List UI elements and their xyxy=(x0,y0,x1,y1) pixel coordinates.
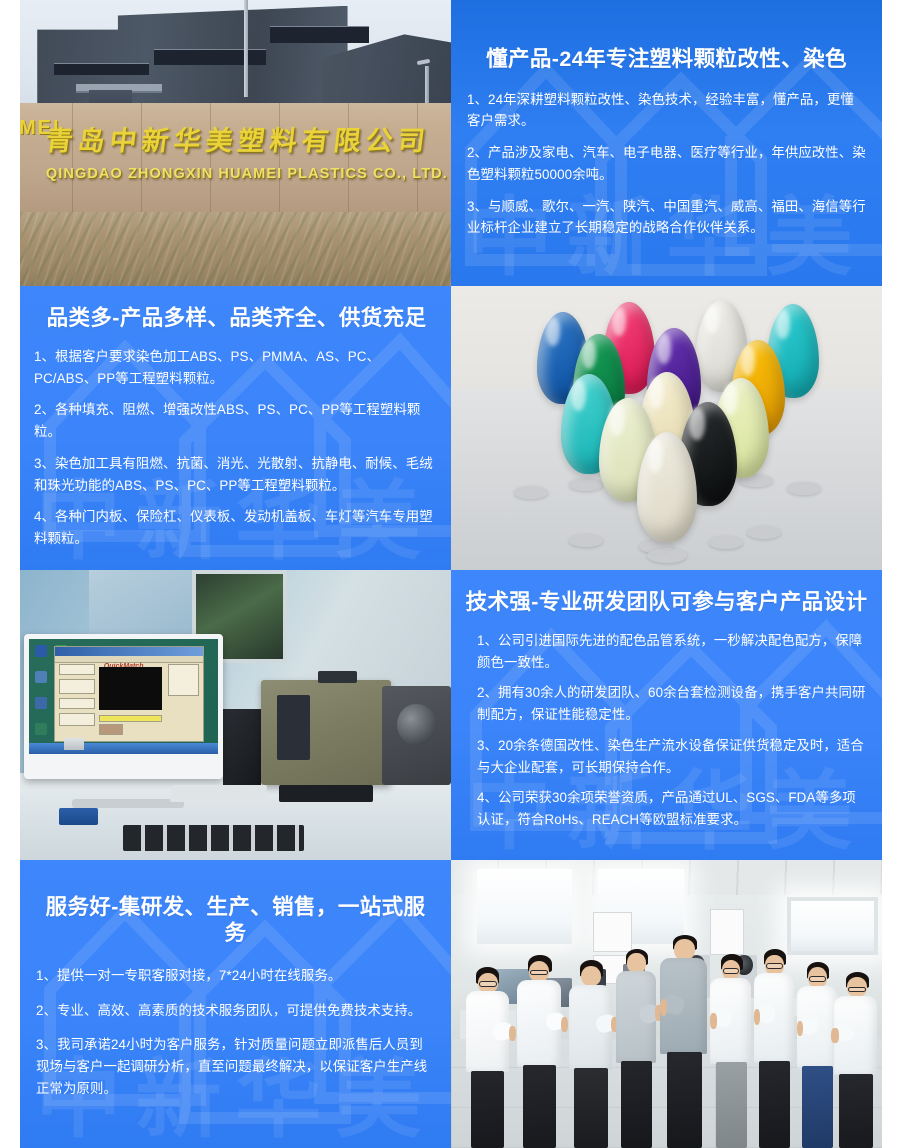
window-row xyxy=(54,63,149,75)
section-product: 中新华美 懂产品-24年专注塑料颗粒改性、染色 1、24年深耕塑料颗粒改性、染色… xyxy=(451,0,882,286)
keyboard[interactable] xyxy=(170,785,267,802)
color-preview-swatch xyxy=(99,667,161,709)
bullet-item: 1、24年深耕塑料颗粒改性、染色技术，经验丰富，懂产品，更懂客户需求。 xyxy=(467,89,866,132)
sample-slot xyxy=(277,695,311,760)
flag-pole xyxy=(244,0,247,97)
spectrophotometer-secondary xyxy=(382,686,451,785)
ground xyxy=(20,212,451,286)
section-bullets: 1、提供一对一专职客服对接，7*24小时在线服务。 2、专业、高效、高素质的技术… xyxy=(36,965,435,1113)
sign-company-name-cn: 青岛中新华美塑料有限公司 xyxy=(43,119,444,158)
section-bullets: 1、24年深耕塑料颗粒改性、染色技术，经验丰富，懂产品，更懂客户需求。 2、产品… xyxy=(467,89,866,239)
lab-monitor: QuickMatch xyxy=(24,634,222,779)
window-side xyxy=(787,897,878,955)
section-technology: 中新华美 技术强-专业研发团队可参与客户产品设计 1、公司引进国际先进的配色品管… xyxy=(451,570,882,860)
bullet-item: 4、各种门内板、保险杠、仪表板、发动机盖板、车灯等汽车专用塑料颗粒。 xyxy=(34,506,439,549)
section-bullets: 1、根据客户要求染色加工ABS、PS、PMMA、AS、PC、PC/ABS、PP等… xyxy=(34,346,439,550)
bullet-item: 3、染色加工具有阻燃、抗菌、消光、光散射、抗静电、耐候、毛绒和珠光功能的ABS、… xyxy=(34,453,439,496)
team-member xyxy=(511,955,567,1148)
section-service: 中新华美 服务好-集研发、生产、销售，一站式服务 1、提供一对一专职客服对接，7… xyxy=(20,860,451,1148)
sign-company-name-en: QINGDAO ZHONGXIN HUAMEI PLASTICS CO., LT… xyxy=(46,166,443,182)
sample-tray xyxy=(59,808,98,825)
monitor-screen: QuickMatch xyxy=(29,639,217,754)
bullet-item: 2、产品涉及家电、汽车、电子电器、医疗等行业，年供应改性、染色塑料颗粒50000… xyxy=(467,142,866,185)
quickmatch-window[interactable]: QuickMatch xyxy=(54,646,205,742)
wall-notice xyxy=(593,912,632,952)
window-row xyxy=(270,26,369,44)
monitor-base xyxy=(72,799,184,808)
color-matching-lab-photo: QuickMatch xyxy=(20,570,451,860)
lab-window-left xyxy=(89,570,192,634)
window-row xyxy=(154,49,266,65)
team-member xyxy=(830,967,882,1148)
bullet-item: 3、我司承诺24小时为客户服务，针对质量问题立即派售后人员到现场与客户一起调研分… xyxy=(36,1034,435,1099)
team-member xyxy=(460,964,516,1148)
lab-photo-cell: QuickMatch xyxy=(20,570,451,860)
bullet-item: 1、提供一对一专职客服对接，7*24小时在线服务。 xyxy=(36,965,435,987)
bullet-item: 2、拥有30余人的研发团队、60余台套检测设备，携手客户共同研制配方，保证性能稳… xyxy=(477,682,868,725)
bullet-item: 2、各种填充、阻燃、增强改性ABS、PS、PC、PP等工程塑料颗粒。 xyxy=(34,399,439,442)
mousepad xyxy=(279,785,374,802)
window-titlebar xyxy=(55,647,204,656)
colored-plastic-pellets-photo xyxy=(451,286,882,570)
factory-entrance-sign-photo: IMEI 青岛中新华美塑料有限公司 QINGDAO ZHONGXIN HUAME… xyxy=(20,0,451,286)
section-title: 品类多-产品多样、品类齐全、供货充足 xyxy=(34,306,439,332)
spectrophotometer xyxy=(261,680,390,784)
bullet-item: 3、20余条德国改性、染色生产流水设备保证供货稳定及时，适合与大企业配套，可长期… xyxy=(477,735,868,778)
section-bullets: 1、公司引进国际先进的配色品管系统，一秒解决配色配方，保障颜色一致性。 2、拥有… xyxy=(465,630,868,840)
section-title: 懂产品-24年专注塑料颗粒改性、染色 xyxy=(467,47,866,73)
bullet-item: 3、与顺威、歌尔、一汽、陕汽、中国重汽、威高、福田、海信等行业标杆企业建立了长期… xyxy=(467,196,866,239)
bullet-item: 1、公司引进国际先进的配色品管系统，一秒解决配色配方，保障颜色一致性。 xyxy=(477,630,868,673)
windows-taskbar[interactable] xyxy=(29,743,217,753)
factory-photo-cell: IMEI 青岛中新华美塑料有限公司 QINGDAO ZHONGXIN HUAME… xyxy=(20,0,451,286)
bullet-item: 1、根据客户要求染色加工ABS、PS、PMMA、AS、PC、PC/ABS、PP等… xyxy=(34,346,439,389)
section-variety: 中新华美 品类多-产品多样、品类齐全、供货充足 1、根据客户要求染色加工ABS、… xyxy=(20,286,451,570)
advantage-grid: IMEI 青岛中新华美塑料有限公司 QINGDAO ZHONGXIN HUAME… xyxy=(20,0,882,1148)
section-title: 服务好-集研发、生产、销售，一站式服务 xyxy=(36,895,435,947)
window-bright xyxy=(477,869,572,944)
wall-notice xyxy=(710,909,744,955)
section-title: 技术强-专业研发团队可参与客户产品设计 xyxy=(465,590,868,616)
bullet-item: 2、专业、高效、高素质的技术服务团队，可提供免费技术支持。 xyxy=(36,1000,435,1022)
company-team-photo xyxy=(451,860,882,1148)
team-photo-cell xyxy=(451,860,882,1148)
sample-plaques xyxy=(123,825,304,851)
product-advantage-infographic: IMEI 青岛中新华美塑料有限公司 QINGDAO ZHONGXIN HUAME… xyxy=(0,0,900,1148)
bullet-item: 4、公司荣获30余项荣誉资质，产品通过UL、SGS、FDA等多项认证，符合RoH… xyxy=(477,787,868,830)
pc-tower xyxy=(223,709,262,784)
pellets-photo-cell xyxy=(451,286,882,570)
window-menubar xyxy=(55,656,204,663)
